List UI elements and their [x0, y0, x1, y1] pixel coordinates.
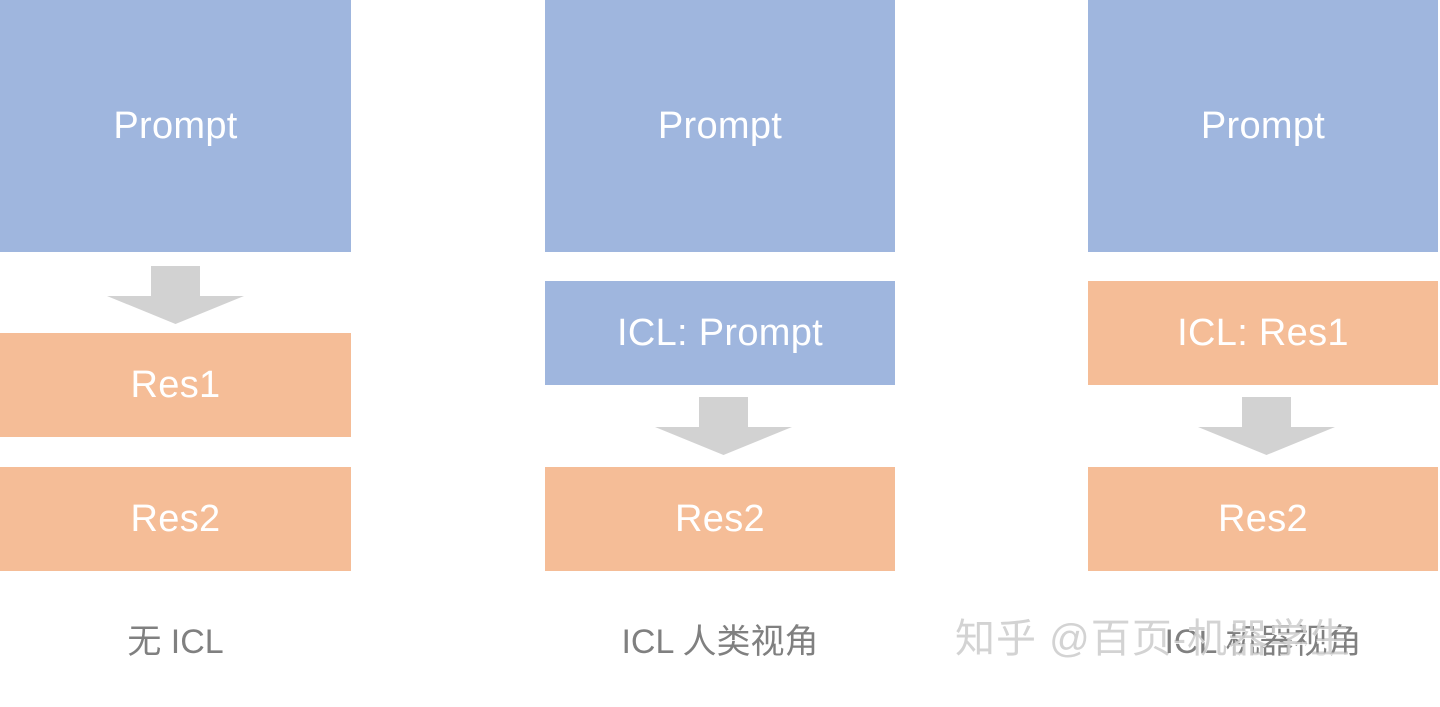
box-res2: Res2: [545, 467, 895, 571]
box-label: ICL: Prompt: [617, 314, 823, 352]
diagram-column-icl-machine-view: Prompt ICL: Res1 Res2 ICL 机器视角: [1088, 0, 1438, 707]
column-caption: 无 ICL: [0, 622, 351, 663]
box-label: Res2: [675, 500, 765, 538]
box-prompt: Prompt: [0, 0, 351, 252]
down-arrow-icon: [655, 397, 792, 455]
box-label: Prompt: [113, 107, 237, 145]
box-label: ICL: Res1: [1177, 314, 1349, 352]
diagram-column-no-icl: Prompt Res1 Res2 无 ICL: [0, 0, 351, 707]
box-label: Prompt: [658, 107, 782, 145]
box-res2: Res2: [1088, 467, 1438, 571]
box-icl-prompt: ICL: Prompt: [545, 281, 895, 385]
column-caption: ICL 机器视角: [1088, 622, 1438, 663]
down-arrow-icon: [107, 266, 244, 324]
box-prompt: Prompt: [1088, 0, 1438, 252]
down-arrow-icon: [1198, 397, 1335, 455]
box-label: Res2: [131, 500, 221, 538]
box-res2: Res2: [0, 467, 351, 571]
box-icl-res1: ICL: Res1: [1088, 281, 1438, 385]
box-label: Res1: [131, 366, 221, 404]
box-res1: Res1: [0, 333, 351, 437]
column-caption: ICL 人类视角: [545, 622, 895, 663]
diagram-canvas: Prompt Res1 Res2 无 ICL Prompt ICL: Promp…: [0, 0, 1440, 707]
box-label: Res2: [1218, 500, 1308, 538]
diagram-column-icl-human-view: Prompt ICL: Prompt Res2 ICL 人类视角: [545, 0, 895, 707]
box-label: Prompt: [1201, 107, 1325, 145]
box-prompt: Prompt: [545, 0, 895, 252]
